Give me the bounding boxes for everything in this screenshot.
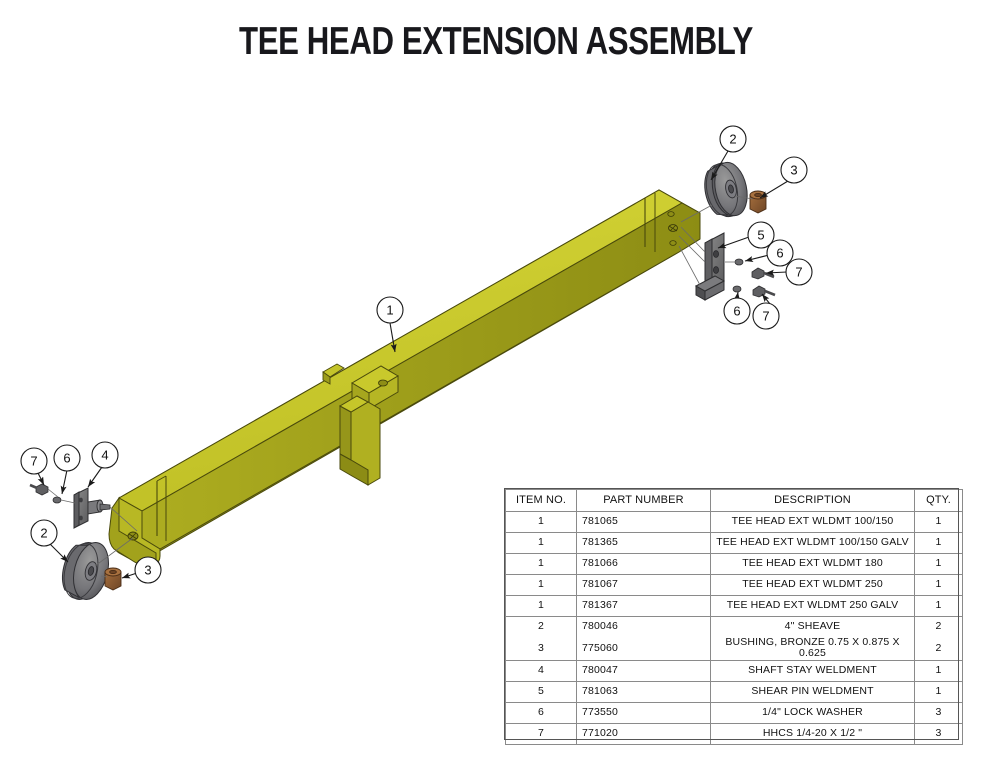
table-row: 67735501/4" LOCK WASHER3 — [506, 702, 963, 723]
cell-item-no: 1 — [506, 575, 577, 596]
cell-part-number: 781367 — [577, 596, 711, 617]
cell-qty: 1 — [915, 533, 963, 554]
cell-part-number: 773550 — [577, 702, 711, 723]
cell-description: SHEAR PIN WELDMENT — [711, 681, 915, 702]
bolt-upper — [752, 268, 774, 279]
table-row: 1781066TEE HEAD EXT WLDMT 1801 — [506, 554, 963, 575]
table-row: 3775060BUSHING, BRONZE 0.75 X 0.875 X 0.… — [506, 637, 963, 660]
cell-qty: 3 — [915, 723, 963, 744]
leader-2b — [50, 544, 68, 562]
leader-3a — [760, 181, 788, 198]
cell-description: 1/4" LOCK WASHER — [711, 702, 915, 723]
balloon-5-label: 5 — [757, 228, 764, 243]
balloon-6c: 6 — [54, 445, 80, 471]
cell-description: TEE HEAD EXT WLDMT 180 — [711, 554, 915, 575]
table-row: 4780047SHAFT STAY WELDMENT1 — [506, 660, 963, 681]
balloon-6a-label: 6 — [776, 246, 783, 261]
leader-6c — [62, 470, 67, 494]
leader-4 — [88, 467, 102, 487]
bushing-upper-right — [750, 191, 766, 213]
balloon-6b-label: 6 — [733, 304, 740, 319]
balloon-6a: 6 — [767, 240, 793, 266]
balloon-1-label: 1 — [386, 303, 393, 318]
cell-item-no: 1 — [506, 554, 577, 575]
cell-part-number: 781065 — [577, 512, 711, 533]
leader-7c — [38, 473, 44, 485]
table-header-row: ITEM NO. PART NUMBER DESCRIPTION QTY. — [506, 490, 963, 512]
cell-qty: 1 — [915, 512, 963, 533]
leader-7a — [766, 272, 787, 273]
cell-item-no: 4 — [506, 660, 577, 681]
cell-description: BUSHING, BRONZE 0.75 X 0.875 X 0.625 — [711, 637, 915, 660]
balloon-2a: 2 — [720, 126, 746, 152]
balloon-7b-label: 7 — [762, 309, 769, 324]
cell-part-number: 780047 — [577, 660, 711, 681]
lock-washer-lower — [733, 286, 741, 292]
col-header-qty: QTY. — [915, 490, 963, 512]
table-row: 5781063SHEAR PIN WELDMENT1 — [506, 681, 963, 702]
cell-item-no: 1 — [506, 596, 577, 617]
balloon-7b: 7 — [753, 303, 779, 329]
balloon-2b-label: 2 — [40, 526, 47, 541]
cell-part-number: 781066 — [577, 554, 711, 575]
table-row: 1781065TEE HEAD EXT WLDMT 100/1501 — [506, 512, 963, 533]
cell-qty: 1 — [915, 554, 963, 575]
bolt-lower — [753, 286, 775, 297]
cell-description: SHAFT STAY WELDMENT — [711, 660, 915, 681]
table-row: 7771020HHCS 1/4-20 X 1/2 "3 — [506, 723, 963, 744]
cell-part-number: 781365 — [577, 533, 711, 554]
cell-qty: 1 — [915, 596, 963, 617]
cell-item-no: 1 — [506, 512, 577, 533]
cell-part-number: 775060 — [577, 637, 711, 660]
cell-qty: 1 — [915, 575, 963, 596]
cell-description: TEE HEAD EXT WLDMT 100/150 — [711, 512, 915, 533]
balloon-4-label: 4 — [101, 448, 108, 463]
cell-part-number: 781063 — [577, 681, 711, 702]
shaft-stay-weldment — [74, 488, 110, 528]
balloon-2a-label: 2 — [729, 132, 736, 147]
balloon-3a-label: 3 — [790, 163, 797, 178]
cell-part-number: 771020 — [577, 723, 711, 744]
cell-description: TEE HEAD EXT WLDMT 100/150 GALV — [711, 533, 915, 554]
cell-qty: 3 — [915, 702, 963, 723]
balloon-6c-label: 6 — [63, 451, 70, 466]
balloon-7c: 7 — [21, 448, 47, 474]
cell-qty: 1 — [915, 660, 963, 681]
cell-item-no: 7 — [506, 723, 577, 744]
balloon-7a: 7 — [786, 259, 812, 285]
shear-pin-weldment-bracket — [696, 233, 724, 300]
bushing-lower-left — [105, 568, 121, 590]
lock-washer-left — [53, 497, 61, 503]
leader-3b — [122, 573, 137, 578]
table-row: 1781067TEE HEAD EXT WLDMT 2501 — [506, 575, 963, 596]
cell-qty: 2 — [915, 617, 963, 638]
balloon-3a: 3 — [781, 157, 807, 183]
leader-6a — [745, 255, 769, 261]
table-row: 27800464" SHEAVE2 — [506, 617, 963, 638]
balloon-6b: 6 — [724, 298, 750, 324]
cell-qty: 1 — [915, 681, 963, 702]
table-row: 1781367TEE HEAD EXT WLDMT 250 GALV1 — [506, 596, 963, 617]
parts-list-table: ITEM NO. PART NUMBER DESCRIPTION QTY. 17… — [505, 489, 958, 745]
cell-item-no: 6 — [506, 702, 577, 723]
cell-description: 4" SHEAVE — [711, 617, 915, 638]
balloon-3b-label: 3 — [144, 563, 151, 578]
cell-item-no: 5 — [506, 681, 577, 702]
cell-item-no: 3 — [506, 637, 577, 660]
cell-part-number: 781067 — [577, 575, 711, 596]
col-header-part-number: PART NUMBER — [577, 490, 711, 512]
cell-qty: 2 — [915, 637, 963, 660]
cell-description: TEE HEAD EXT WLDMT 250 — [711, 575, 915, 596]
balloon-7c-label: 7 — [30, 454, 37, 469]
cell-item-no: 2 — [506, 617, 577, 638]
sheave-upper-right — [700, 159, 752, 220]
balloon-2b: 2 — [31, 520, 57, 546]
balloon-7a-label: 7 — [795, 265, 802, 280]
balloon-1: 1 — [377, 297, 403, 323]
cell-part-number: 780046 — [577, 617, 711, 638]
balloon-3b: 3 — [135, 557, 161, 583]
cell-item-no: 1 — [506, 533, 577, 554]
col-header-item-no: ITEM NO. — [506, 490, 577, 512]
col-header-description: DESCRIPTION — [711, 490, 915, 512]
table-row: 1781365TEE HEAD EXT WLDMT 100/150 GALV1 — [506, 533, 963, 554]
cell-description: HHCS 1/4-20 X 1/2 " — [711, 723, 915, 744]
bolt-left — [30, 484, 48, 495]
cell-description: TEE HEAD EXT WLDMT 250 GALV — [711, 596, 915, 617]
balloon-4: 4 — [92, 442, 118, 468]
